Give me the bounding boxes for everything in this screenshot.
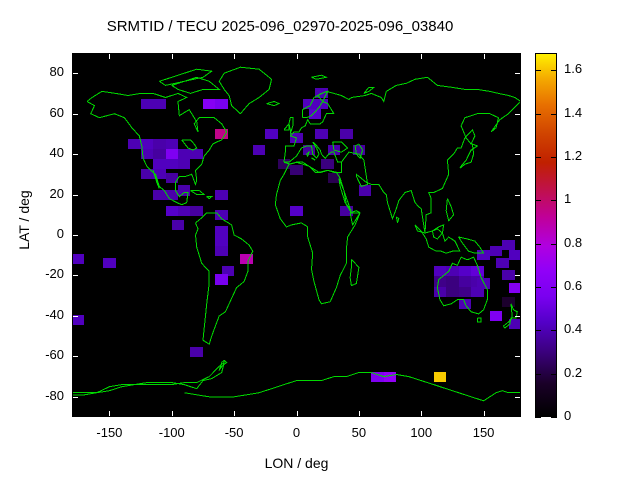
colorbar-tick-label: 0.6 [564,278,582,293]
colorbar-tick [551,70,557,71]
axis-tick [234,53,235,59]
x-tick-label: 50 [329,425,389,440]
colorbar-tick [535,374,541,375]
axis-tick [484,411,485,417]
axis-tick [515,356,521,357]
axis-tick [109,53,110,59]
colorbar-tick [551,244,557,245]
y-axis-title: LAT / deg [16,150,32,290]
axis-tick [515,154,521,155]
colorbar-gradient [536,54,556,416]
colorbar-tick [551,157,557,158]
y-tick-label: -60 [18,347,64,362]
colorbar-tick-label: 1 [564,191,571,206]
colorbar-tick [535,114,541,115]
map-plot-area[interactable] [72,53,521,417]
y-tick-label: 60 [18,105,64,120]
colorbar-tick [551,417,557,418]
axis-tick [484,53,485,59]
axis-tick [72,397,78,398]
y-tick-label: 80 [18,64,64,79]
axis-tick [297,411,298,417]
axis-tick [72,235,78,236]
axis-tick [297,53,298,59]
axis-tick [421,53,422,59]
colorbar-tick [535,157,541,158]
colorbar-tick [551,374,557,375]
y-tick-label: -80 [18,388,64,403]
y-tick-label: -40 [18,307,64,322]
colorbar-tick-label: 0.8 [564,235,582,250]
x-tick-label: 100 [391,425,451,440]
x-axis-title: LON / deg [72,455,521,471]
inner-tick-layer [72,53,521,417]
x-tick-label: -150 [79,425,139,440]
x-tick-label: 0 [267,425,327,440]
axis-tick [72,154,78,155]
axis-tick [421,411,422,417]
axis-tick [72,114,78,115]
axis-tick [359,411,360,417]
colorbar-tick [535,287,541,288]
colorbar-tick [535,330,541,331]
colorbar-tick [551,114,557,115]
x-tick-label: -100 [142,425,202,440]
chart-title: SRMTID / TECU 2025-096_02970-2025-096_03… [0,18,560,35]
axis-tick [72,195,78,196]
colorbar-tick-label: 0.4 [564,321,582,336]
axis-tick [515,316,521,317]
colorbar-tick [535,200,541,201]
colorbar-tick-label: 1.4 [564,105,582,120]
axis-tick [515,73,521,74]
x-tick-label: 150 [454,425,514,440]
axis-tick [172,53,173,59]
axis-tick [515,195,521,196]
colorbar-tick-label: 1.6 [564,61,582,76]
axis-tick [72,275,78,276]
colorbar-tick [535,244,541,245]
colorbar-tick [535,417,541,418]
colorbar-tick [551,200,557,201]
axis-tick [515,397,521,398]
axis-tick [72,356,78,357]
axis-tick [109,411,110,417]
axis-tick [515,114,521,115]
colorbar-tick [551,330,557,331]
axis-tick [359,53,360,59]
colorbar-tick-label: 0 [564,408,571,423]
axis-tick [515,275,521,276]
x-tick-label: -50 [204,425,264,440]
colorbar-tick-label: 0.2 [564,365,582,380]
axis-tick [172,411,173,417]
colorbar-tick [551,287,557,288]
figure-srmtid-tecu-map: SRMTID / TECU 2025-096_02970-2025-096_03… [0,0,640,480]
axis-tick [72,73,78,74]
colorbar[interactable] [535,53,557,417]
axis-tick [515,235,521,236]
axis-tick [72,316,78,317]
colorbar-tick-label: 1.2 [564,148,582,163]
colorbar-tick [535,70,541,71]
axis-tick [234,411,235,417]
